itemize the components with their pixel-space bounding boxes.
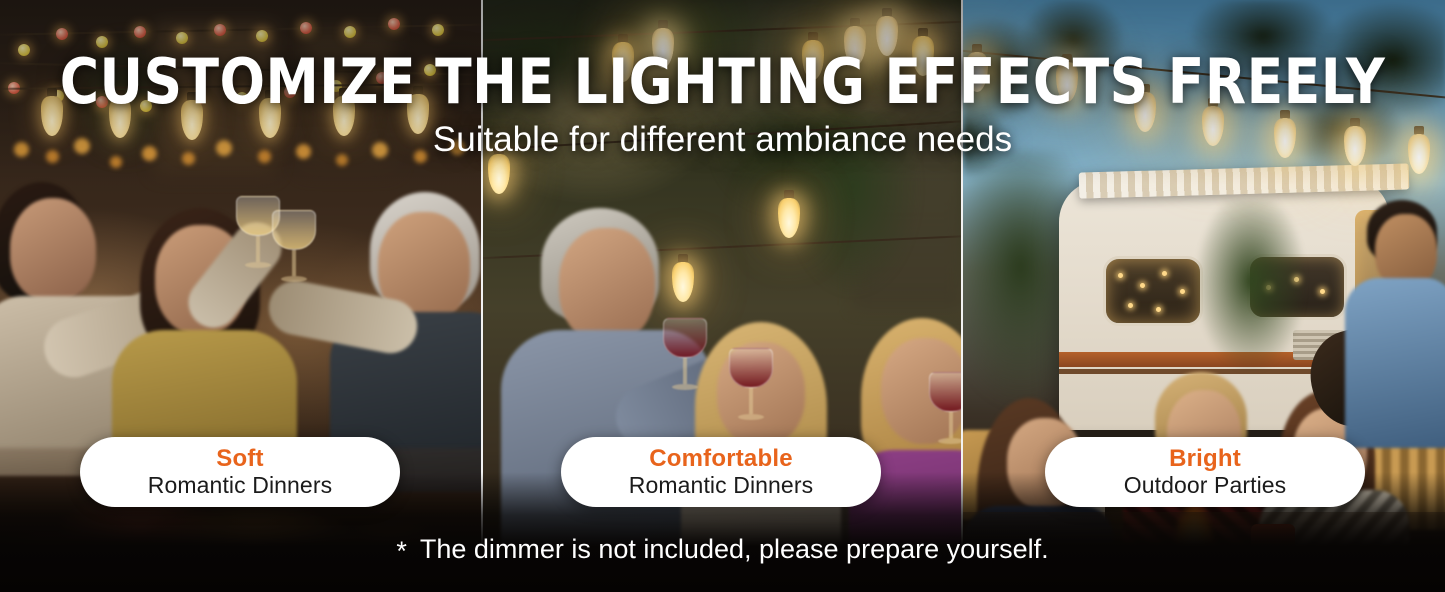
mode-pill-comfortable-subtitle: Romantic Dinners [629, 472, 813, 499]
lighting-effects-banner: CUSTOMIZE THE LIGHTING EFFECTS FREELY Su… [0, 0, 1445, 592]
mode-pill-soft-title: Soft [216, 446, 263, 472]
mode-pill-comfortable[interactable]: Comfortable Romantic Dinners [561, 437, 881, 507]
subheadline: Suitable for different ambiance needs [0, 120, 1445, 160]
mode-pill-bright-title: Bright [1169, 446, 1241, 472]
asterisk-icon: * [396, 535, 407, 567]
decor-potted-tree [1191, 200, 1311, 380]
mode-pill-soft[interactable]: Soft Romantic Dinners [80, 437, 400, 507]
mode-pill-bright-subtitle: Outdoor Parties [1124, 472, 1287, 499]
footnote-text: The dimmer is not included, please prepa… [420, 534, 1049, 564]
caravan-window-left [1103, 256, 1203, 326]
mode-pill-bright[interactable]: Bright Outdoor Parties [1045, 437, 1365, 507]
mode-pill-soft-subtitle: Romantic Dinners [148, 472, 332, 499]
headline: CUSTOMIZE THE LIGHTING EFFECTS FREELY [29, 52, 1416, 112]
mode-pill-comfortable-title: Comfortable [649, 446, 793, 472]
footnote: *The dimmer is not included, please prep… [0, 533, 1445, 567]
